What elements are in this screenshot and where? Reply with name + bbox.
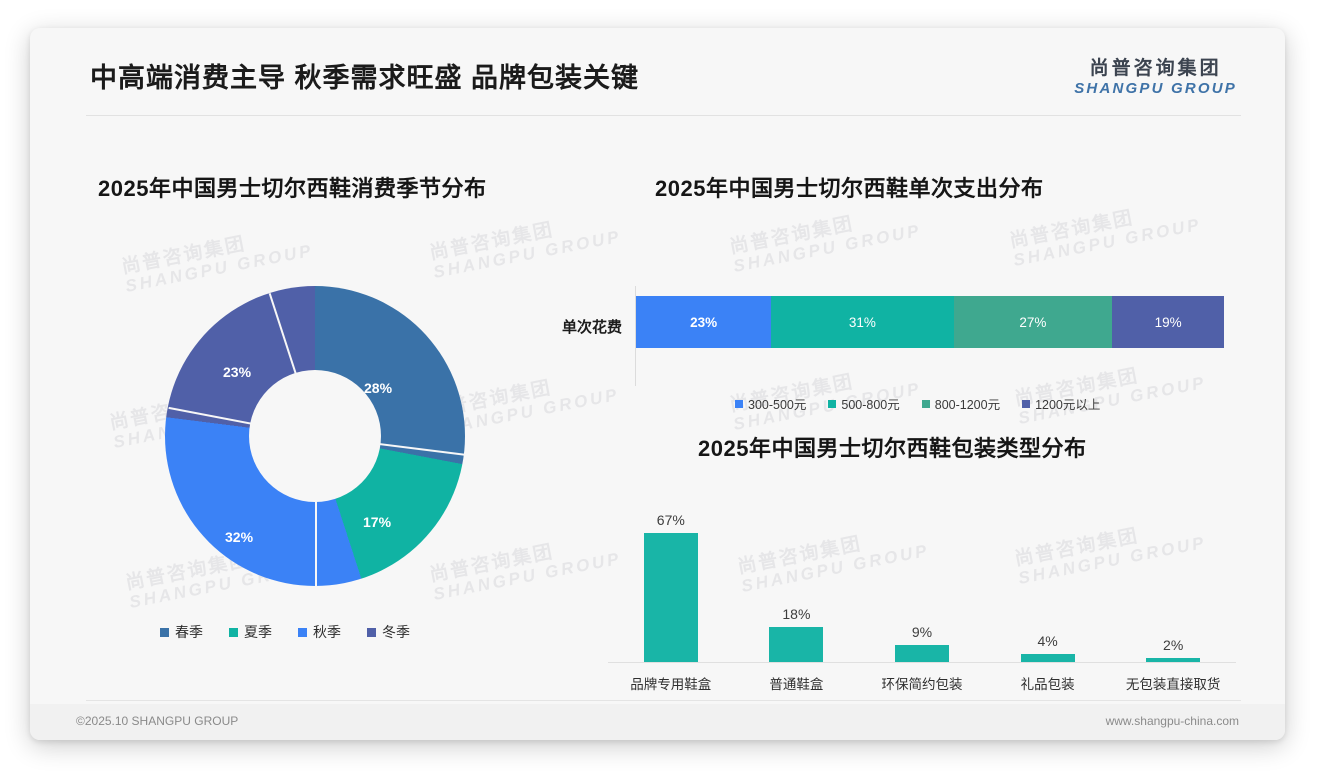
stacked-bar-track: 23% 31% 27% 19% (636, 296, 1224, 348)
column-item[interactable]: 67% (608, 512, 734, 662)
column-value: 18% (782, 606, 810, 622)
copyright-text: ©2025.10 SHANGPU GROUP (76, 714, 238, 728)
column-category-label: 环保简约包装 (859, 673, 985, 693)
header-divider (86, 115, 1241, 116)
legend-swatch-icon (367, 628, 376, 637)
legend-item-spring[interactable]: 春季 (160, 622, 203, 642)
note-divider (86, 700, 1241, 701)
stacked-bar-title: 2025年中国男士切尔西鞋单次支出分布 (655, 171, 1043, 203)
donut-value-winter: 23% (223, 364, 251, 380)
slide-card: 尚普咨询集团SHANGPU GROUP 尚普咨询集团SHANGPU GROUP … (30, 28, 1285, 740)
legend-label: 1200元以上 (1035, 394, 1100, 413)
column-item[interactable]: 2% (1110, 512, 1236, 662)
column-fill (769, 627, 823, 662)
column-value: 2% (1163, 637, 1183, 653)
legend-item-500-800[interactable]: 500-800元 (828, 394, 899, 413)
column-value: 9% (912, 624, 932, 640)
column-item[interactable]: 9% (859, 512, 985, 662)
legend-item-800-1200[interactable]: 800-1200元 (922, 394, 1000, 413)
watermark-cn: 尚普咨询集团 (728, 202, 919, 258)
donut-legend: 春季 夏季 秋季 冬季 (160, 622, 410, 642)
page-title: 中高端消费主导 秋季需求旺盛 品牌包装关键 (90, 56, 639, 95)
column-item[interactable]: 18% (734, 512, 860, 662)
column-chart-categories: 品牌专用鞋盒 普通鞋盒 环保简约包装 礼品包装 无包装直接取货 (608, 673, 1236, 693)
column-fill (1146, 658, 1200, 662)
watermark-cn: 尚普咨询集团 (428, 208, 619, 264)
column-category-label: 品牌专用鞋盒 (608, 673, 734, 693)
column-chart-baseline (608, 662, 1236, 663)
legend-swatch-icon (735, 400, 743, 408)
watermark-en: SHANGPU GROUP (432, 228, 623, 282)
logo-chinese-text: 尚普咨询集团 (1074, 58, 1237, 80)
donut-value-spring: 28% (364, 380, 392, 396)
legend-swatch-icon (922, 400, 930, 408)
legend-item-winter[interactable]: 冬季 (367, 622, 410, 642)
stacked-bar-legend: 300-500元 500-800元 800-1200元 1200元以上 (735, 394, 1100, 413)
donut-hole (249, 370, 381, 502)
legend-label: 500-800元 (841, 394, 899, 413)
legend-item-1200-plus[interactable]: 1200元以上 (1022, 394, 1100, 413)
legend-label: 800-1200元 (935, 394, 1000, 413)
legend-swatch-icon (229, 628, 238, 637)
watermark-cn: 尚普咨询集团 (1008, 196, 1199, 252)
column-category-label: 普通鞋盒 (734, 673, 860, 693)
slide-footer: ©2025.10 SHANGPU GROUP www.shangpu-china… (30, 704, 1285, 740)
stacked-segment-1200-plus[interactable]: 19% (1112, 296, 1224, 348)
column-value: 67% (657, 512, 685, 528)
column-item[interactable]: 4% (985, 512, 1111, 662)
donut-ring: 28% 17% 32% 23% (165, 286, 465, 586)
legend-item-autumn[interactable]: 秋季 (298, 622, 341, 642)
column-category-label: 礼品包装 (985, 673, 1111, 693)
column-value: 4% (1037, 633, 1057, 649)
legend-swatch-icon (298, 628, 307, 637)
legend-label: 秋季 (313, 622, 341, 642)
stacked-segment-500-800[interactable]: 31% (771, 296, 953, 348)
column-chart-bars: 67% 18% 9% 4% 2% (608, 512, 1236, 662)
website-url[interactable]: www.shangpu-china.com (1106, 714, 1239, 728)
logo-english-text: SHANGPU GROUP (1074, 80, 1237, 98)
column-fill (644, 533, 698, 662)
column-chart-title: 2025年中国男士切尔西鞋包装类型分布 (698, 431, 1086, 463)
packaging-column-chart: 67% 18% 9% 4% 2% 品牌专用鞋盒 普通鞋盒 环保简约包装 礼品包装… (590, 496, 1250, 701)
stacked-segment-800-1200[interactable]: 27% (954, 296, 1113, 348)
column-category-label: 无包装直接取货 (1110, 673, 1236, 693)
legend-label: 春季 (175, 622, 203, 642)
donut-value-summer: 17% (363, 514, 391, 530)
stacked-segment-300-500[interactable]: 23% (636, 296, 771, 348)
season-donut-chart: 28% 17% 32% 23% (150, 286, 480, 616)
spend-stacked-bar-chart: 单次花费 23% 31% 27% 19% 300-500元 500-800元 8… (530, 286, 1230, 406)
legend-swatch-icon (828, 400, 836, 408)
legend-swatch-icon (1022, 400, 1030, 408)
column-fill (895, 645, 949, 662)
legend-label: 夏季 (244, 622, 272, 642)
watermark-cn: 尚普咨询集团 (120, 222, 311, 278)
stacked-bar-category-label: 单次花费 (530, 316, 622, 337)
watermark-en: SHANGPU GROUP (1012, 216, 1203, 270)
slide-header: 中高端消费主导 秋季需求旺盛 品牌包装关键 尚普咨询集团 SHANGPU GRO… (30, 28, 1285, 112)
legend-label: 300-500元 (748, 394, 806, 413)
legend-label: 冬季 (382, 622, 410, 642)
column-fill (1021, 654, 1075, 662)
legend-item-summer[interactable]: 夏季 (229, 622, 272, 642)
legend-item-300-500[interactable]: 300-500元 (735, 394, 806, 413)
donut-value-autumn: 32% (225, 529, 253, 545)
brand-logo: 尚普咨询集团 SHANGPU GROUP (1074, 58, 1237, 98)
donut-chart-title: 2025年中国男士切尔西鞋消费季节分布 (98, 171, 486, 203)
watermark-en: SHANGPU GROUP (732, 222, 923, 276)
legend-swatch-icon (160, 628, 169, 637)
